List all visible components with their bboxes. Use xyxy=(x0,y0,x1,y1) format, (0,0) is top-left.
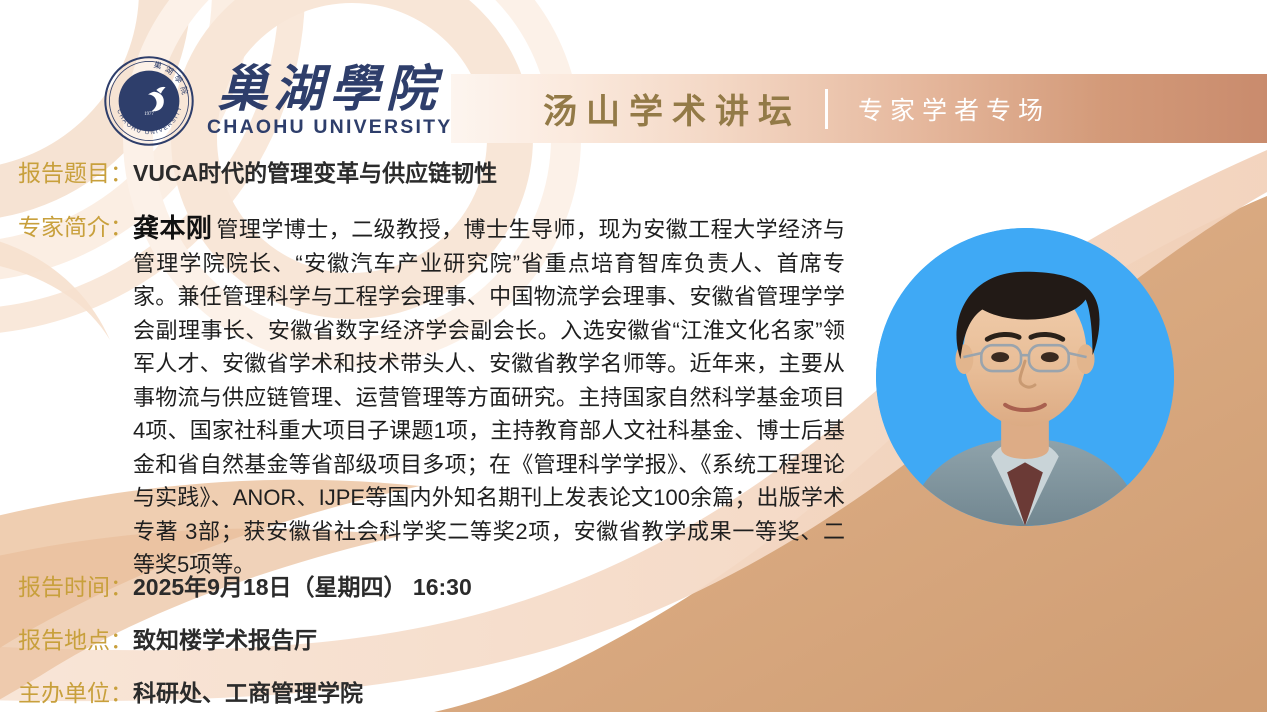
talk-place-label: 报告地点： xyxy=(18,625,133,656)
svg-text:1977: 1977 xyxy=(144,112,154,117)
logo-chinese-name: 巢湖學院 xyxy=(218,63,442,116)
speaker-portrait-image xyxy=(876,228,1174,526)
talk-title-row: 报告题目： VUCA时代的管理变革与供应链韧性 xyxy=(18,158,497,189)
talk-title-label: 报告题目： xyxy=(18,158,133,189)
seminar-poster: 1977 巢 湖 學 院 CHAOHU UNIVERSITY 巢湖學院 CHAO… xyxy=(0,0,1267,712)
banner-divider xyxy=(825,89,828,129)
speaker-name: 龚本刚 xyxy=(133,213,212,243)
talk-time-label: 报告时间： xyxy=(18,572,133,603)
talk-place-row: 报告地点： 致知楼学术报告厅 xyxy=(18,625,317,656)
banner-main-title: 汤山学术讲坛 xyxy=(543,84,801,133)
talk-time-value: 2025年9月18日（星期四） 16:30 xyxy=(133,572,472,603)
speaker-bio-row: 专家简介： 龚本刚管理学博士，二级教授，博士生导师，现为安徽工程大学经济与管理学… xyxy=(18,212,845,582)
speaker-bio-label: 专家简介： xyxy=(18,212,133,243)
speaker-bio-body: 龚本刚管理学博士，二级教授，博士生导师，现为安徽工程大学经济与管理学院院长、“安… xyxy=(133,212,845,582)
banner-subtitle: 专家学者专场 xyxy=(858,91,1050,127)
logo-english-name: CHAOHU UNIVERSITY xyxy=(207,116,452,139)
talk-host-row: 主办单位： 科研处、工商管理学院 xyxy=(18,678,363,709)
header-banner: 汤山学术讲坛 专家学者专场 xyxy=(451,74,1267,143)
talk-host-value: 科研处、工商管理学院 xyxy=(133,678,363,709)
talk-title-value: VUCA时代的管理变革与供应链韧性 xyxy=(133,158,497,189)
university-logo: 1977 巢 湖 學 院 CHAOHU UNIVERSITY 巢湖學院 CHAO… xyxy=(103,55,452,147)
talk-place-value: 致知楼学术报告厅 xyxy=(133,625,317,656)
talk-host-label: 主办单位： xyxy=(18,678,133,709)
talk-time-row: 报告时间： 2025年9月18日（星期四） 16:30 xyxy=(18,572,472,603)
speaker-portrait xyxy=(876,228,1174,526)
chaohu-university-emblem-icon: 1977 巢 湖 學 院 CHAOHU UNIVERSITY xyxy=(103,55,195,147)
speaker-bio-text: 管理学博士，二级教授，博士生导师，现为安徽工程大学经济与管理学院院长、“安徽汽车… xyxy=(133,217,845,577)
